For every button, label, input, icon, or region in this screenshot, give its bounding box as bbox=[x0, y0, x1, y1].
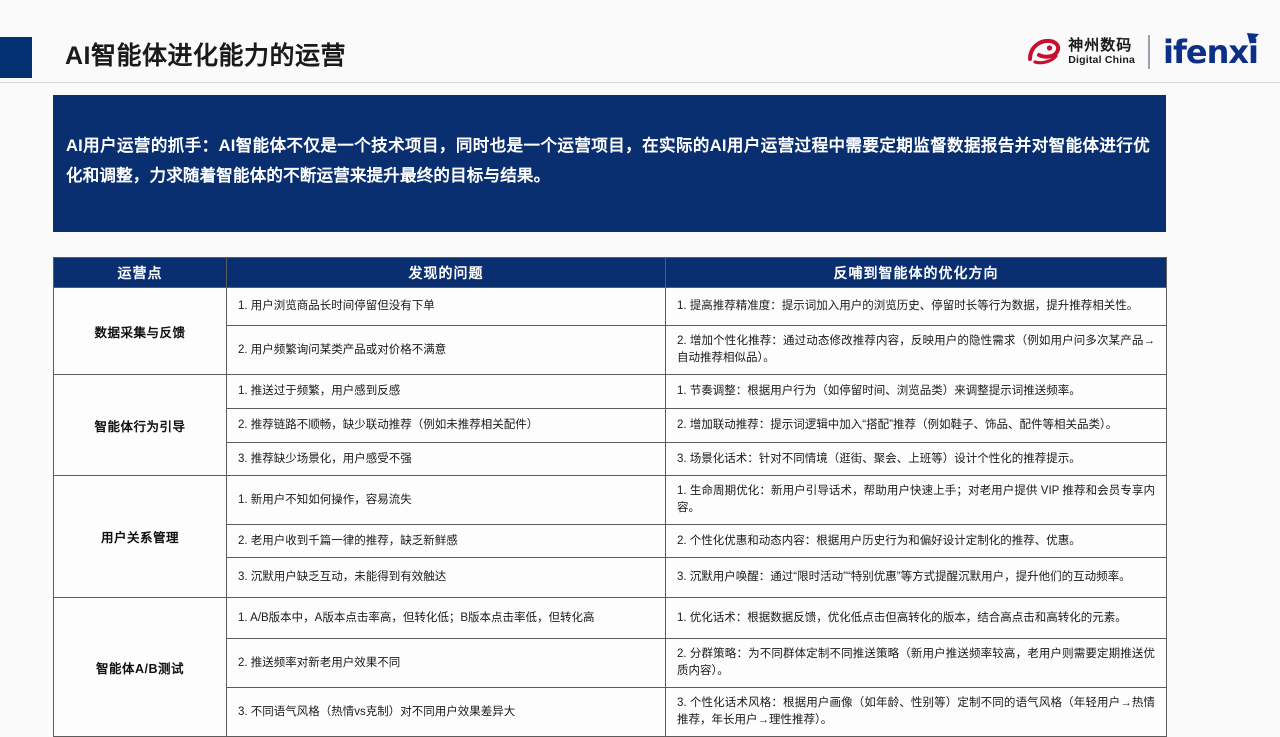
header-divider bbox=[0, 82, 1280, 83]
page-title: AI智能体进化能力的运营 bbox=[65, 36, 346, 76]
banner-text: AI用户运营的抓手：AI智能体不仅是一个技术项目，同时也是一个运营项目，在实际的… bbox=[66, 131, 1150, 191]
key-message-banner: AI用户运营的抓手：AI智能体不仅是一个技术项目，同时也是一个运营项目，在实际的… bbox=[53, 95, 1166, 232]
table-row: 智能体行为引导1. 推送过于频繁，用户感到反感1. 节奏调整：根据用户行为（如停… bbox=[54, 375, 1167, 409]
problem-cell: 3. 不同语气风格（热情vs克制）对不同用户效果差异大 bbox=[227, 688, 666, 737]
digital-china-swoosh-icon bbox=[1027, 37, 1061, 67]
ifenxi-arrow-icon bbox=[1245, 31, 1261, 47]
group-label-cell: 智能体行为引导 bbox=[54, 375, 227, 476]
group-label-cell: 智能体A/B测试 bbox=[54, 598, 227, 737]
operations-table: 运营点 发现的问题 反哺到智能体的优化方向 数据采集与反馈1. 用户浏览商品长时… bbox=[53, 257, 1167, 737]
logo-area: 神州数码 Digital China ifenxi bbox=[1027, 29, 1258, 75]
logo-divider bbox=[1148, 35, 1150, 69]
problem-cell: 3. 沉默用户缺乏互动，未能得到有效触达 bbox=[227, 558, 666, 598]
group-label-cell: 数据采集与反馈 bbox=[54, 288, 227, 375]
column-header-operation-point: 运营点 bbox=[54, 258, 227, 288]
optimization-cell: 2. 增加联动推荐：提示词逻辑中加入“搭配”推荐（例如鞋子、饰品、配件等相关品类… bbox=[666, 409, 1167, 443]
problem-cell: 1. 用户浏览商品长时间停留但没有下单 bbox=[227, 288, 666, 326]
digital-china-cn-text: 神州数码 bbox=[1068, 38, 1135, 53]
problem-cell: 2. 推荐链路不顺畅，缺少联动推荐（例如未推荐相关配件） bbox=[227, 409, 666, 443]
table-row: 用户关系管理1. 新用户不知如何操作，容易流失1. 生命周期优化：新用户引导话术… bbox=[54, 476, 1167, 525]
optimization-cell: 1. 节奏调整：根据用户行为（如停留时间、浏览品类）来调整提示词推送频率。 bbox=[666, 375, 1167, 409]
header-accent-block bbox=[0, 37, 32, 78]
problem-cell: 1. A/B版本中，A版本点击率高，但转化低；B版本点击率低，但转化高 bbox=[227, 598, 666, 639]
page-header: AI智能体进化能力的运营 神州数码 Digital China ifenxi bbox=[0, 0, 1280, 83]
optimization-cell: 3. 沉默用户唤醒：通过“限时活动”“特别优惠”等方式提醒沉默用户，提升他们的互… bbox=[666, 558, 1167, 598]
optimization-cell: 2. 分群策略：为不同群体定制不同推送策略（新用户推送频率较高，老用户则需要定期… bbox=[666, 639, 1167, 688]
optimization-cell: 1. 优化话术：根据数据反馈，优化低点击但高转化的版本，结合高点击和高转化的元素… bbox=[666, 598, 1167, 639]
table-row: 智能体A/B测试1. A/B版本中，A版本点击率高，但转化低；B版本点击率低，但… bbox=[54, 598, 1167, 639]
digital-china-wordmark: 神州数码 Digital China bbox=[1068, 38, 1135, 66]
problem-cell: 3. 推荐缺少场景化，用户感受不强 bbox=[227, 443, 666, 476]
problem-cell: 1. 新用户不知如何操作，容易流失 bbox=[227, 476, 666, 525]
ifenxi-wordmark: ifenxi bbox=[1163, 33, 1258, 71]
column-header-optimization-direction: 反哺到智能体的优化方向 bbox=[666, 258, 1167, 288]
problem-cell: 2. 用户频繁询问某类产品或对价格不满意 bbox=[227, 326, 666, 375]
digital-china-logo: 神州数码 Digital China bbox=[1027, 37, 1135, 67]
optimization-cell: 1. 提高推荐精准度：提示词加入用户的浏览历史、停留时长等行为数据，提升推荐相关… bbox=[666, 288, 1167, 326]
ifenxi-logo: ifenxi bbox=[1163, 33, 1258, 71]
optimization-cell: 3. 个性化话术风格：根据用户画像（如年龄、性别等）定制不同的语气风格（年轻用户… bbox=[666, 688, 1167, 737]
optimization-cell: 3. 场景化话术：针对不同情境（逛街、聚会、上班等）设计个性化的推荐提示。 bbox=[666, 443, 1167, 476]
problem-cell: 2. 老用户收到千篇一律的推荐，缺乏新鲜感 bbox=[227, 525, 666, 558]
table-header-row: 运营点 发现的问题 反哺到智能体的优化方向 bbox=[54, 258, 1167, 288]
group-label-cell: 用户关系管理 bbox=[54, 476, 227, 598]
operations-table-wrap: 运营点 发现的问题 反哺到智能体的优化方向 数据采集与反馈1. 用户浏览商品长时… bbox=[53, 257, 1166, 737]
problem-cell: 2. 推送频率对新老用户效果不同 bbox=[227, 639, 666, 688]
digital-china-en-text: Digital China bbox=[1068, 55, 1135, 66]
table-head: 运营点 发现的问题 反哺到智能体的优化方向 bbox=[54, 258, 1167, 288]
problem-cell: 1. 推送过于频繁，用户感到反感 bbox=[227, 375, 666, 409]
table-row: 数据采集与反馈1. 用户浏览商品长时间停留但没有下单1. 提高推荐精准度：提示词… bbox=[54, 288, 1167, 326]
optimization-cell: 2. 个性化优惠和动态内容：根据用户历史行为和偏好设计定制化的推荐、优惠。 bbox=[666, 525, 1167, 558]
table-body: 数据采集与反馈1. 用户浏览商品长时间停留但没有下单1. 提高推荐精准度：提示词… bbox=[54, 288, 1167, 737]
optimization-cell: 1. 生命周期优化：新用户引导话术，帮助用户快速上手；对老用户提供 VIP 推荐… bbox=[666, 476, 1167, 525]
column-header-found-problem: 发现的问题 bbox=[227, 258, 666, 288]
optimization-cell: 2. 增加个性化推荐：通过动态修改推荐内容，反映用户的隐性需求（例如用户问多次某… bbox=[666, 326, 1167, 375]
